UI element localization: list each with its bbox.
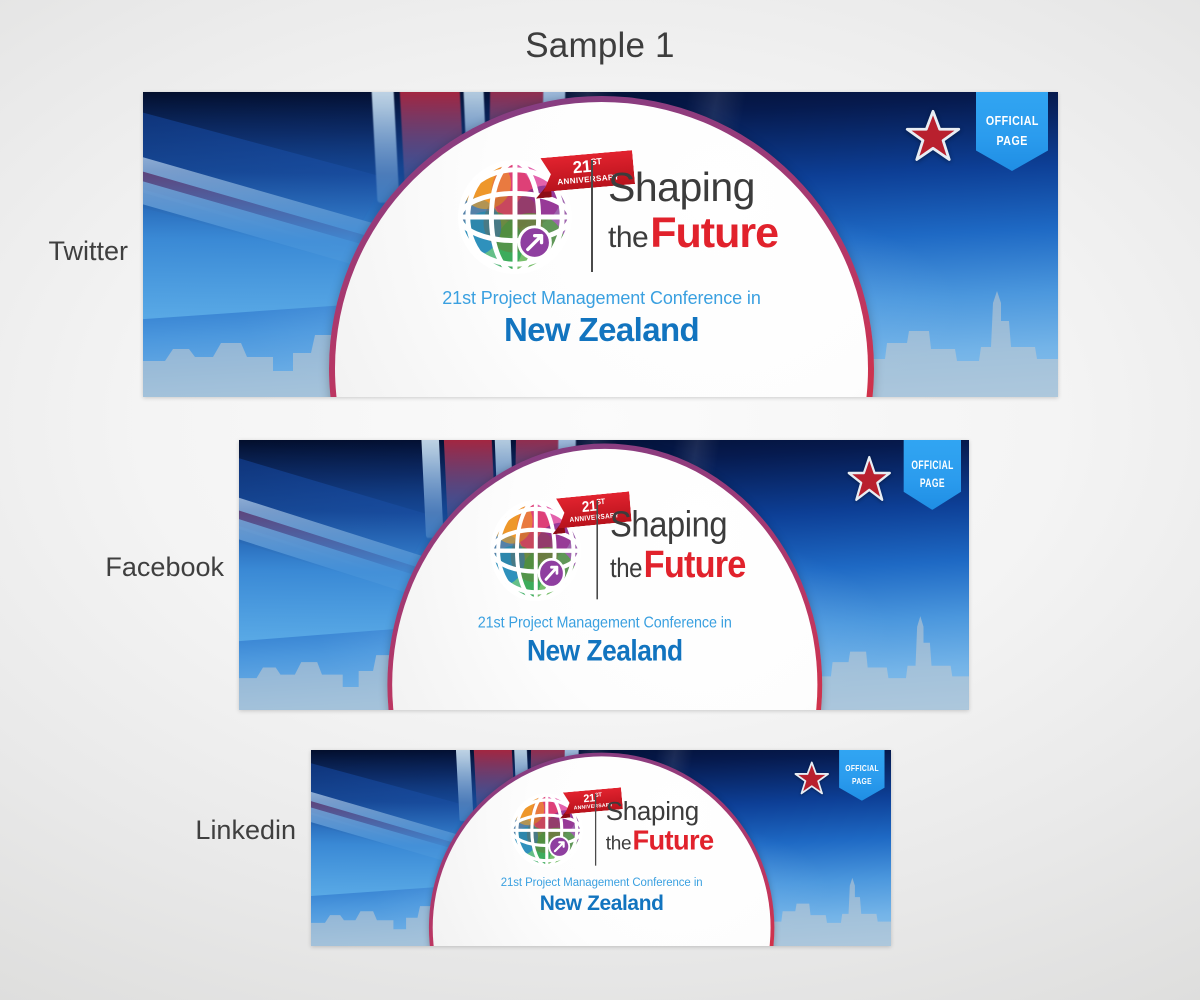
banner-preview-facebook[interactable]: 21ST ANNIVERSARY Shaping the Future 21st… bbox=[239, 440, 969, 710]
pin-marker-icon bbox=[519, 227, 550, 258]
tagline-line2: the Future bbox=[610, 544, 746, 587]
pin-marker-icon bbox=[539, 559, 564, 587]
tagline-future: Future bbox=[633, 825, 714, 856]
banner-preview-linkedin[interactable]: 21ST ANNIVERSARY Shaping the Future 21st… bbox=[311, 750, 891, 946]
tagline-the: the bbox=[608, 221, 648, 255]
star-icon bbox=[905, 108, 961, 164]
star-icon bbox=[794, 760, 829, 796]
logo-lockup: 21ST ANNIVERSARY Shaping the Future bbox=[489, 493, 752, 608]
page-title: Sample 1 bbox=[0, 26, 1200, 66]
banner-stage: 21ST ANNIVERSARY Shaping the Future 21st… bbox=[239, 440, 969, 710]
official-page-line2: PAGE bbox=[852, 775, 872, 788]
conference-country: New Zealand bbox=[387, 634, 822, 668]
pin-marker-icon bbox=[549, 837, 569, 857]
official-page-line2: PAGE bbox=[920, 475, 945, 493]
banner-stage: 21ST ANNIVERSARY Shaping the Future 21st… bbox=[311, 750, 891, 946]
tagline-line2: the Future bbox=[608, 209, 778, 258]
tagline-divider bbox=[596, 500, 598, 599]
logo-lockup: 21ST ANNIVERSARY Shaping the Future bbox=[509, 789, 718, 873]
tagline-divider bbox=[595, 794, 596, 866]
conference-country: New Zealand bbox=[429, 891, 774, 915]
tagline-the: the bbox=[606, 833, 631, 855]
tagline-future: Future bbox=[644, 544, 746, 587]
official-page-line2: PAGE bbox=[996, 131, 1027, 151]
conference-line: 21st Project Management Conference in bbox=[329, 288, 874, 309]
conference-line: 21st Project Management Conference in bbox=[387, 613, 822, 632]
tagline-line2: the Future bbox=[606, 825, 714, 856]
official-page-line1: OFFICIAL bbox=[845, 762, 879, 775]
tagline-line1: Shaping bbox=[608, 164, 755, 211]
tagline-divider bbox=[591, 160, 593, 272]
banner-stage: 21ST ANNIVERSARY Shaping the Future 21st… bbox=[143, 92, 1058, 397]
banner-preview-twitter[interactable]: 21ST ANNIVERSARY Shaping the Future 21st… bbox=[143, 92, 1058, 397]
official-page-line1: OFFICIAL bbox=[985, 111, 1038, 131]
preview-label-twitter: Twitter bbox=[0, 236, 128, 267]
star-icon bbox=[847, 454, 892, 504]
official-page-line1: OFFICIAL bbox=[911, 457, 953, 475]
preview-label-facebook: Facebook bbox=[0, 552, 224, 583]
conference-country: New Zealand bbox=[329, 311, 874, 349]
preview-label-linkedin: Linkedin bbox=[0, 815, 296, 846]
tagline-line1: Shaping bbox=[606, 796, 699, 826]
tagline-the: the bbox=[610, 554, 642, 584]
tagline-line1: Shaping bbox=[610, 504, 727, 546]
tagline-future: Future bbox=[650, 209, 778, 258]
logo-lockup: 21ST ANNIVERSARY Shaping the Future bbox=[456, 152, 786, 282]
conference-line: 21st Project Management Conference in bbox=[429, 876, 774, 889]
